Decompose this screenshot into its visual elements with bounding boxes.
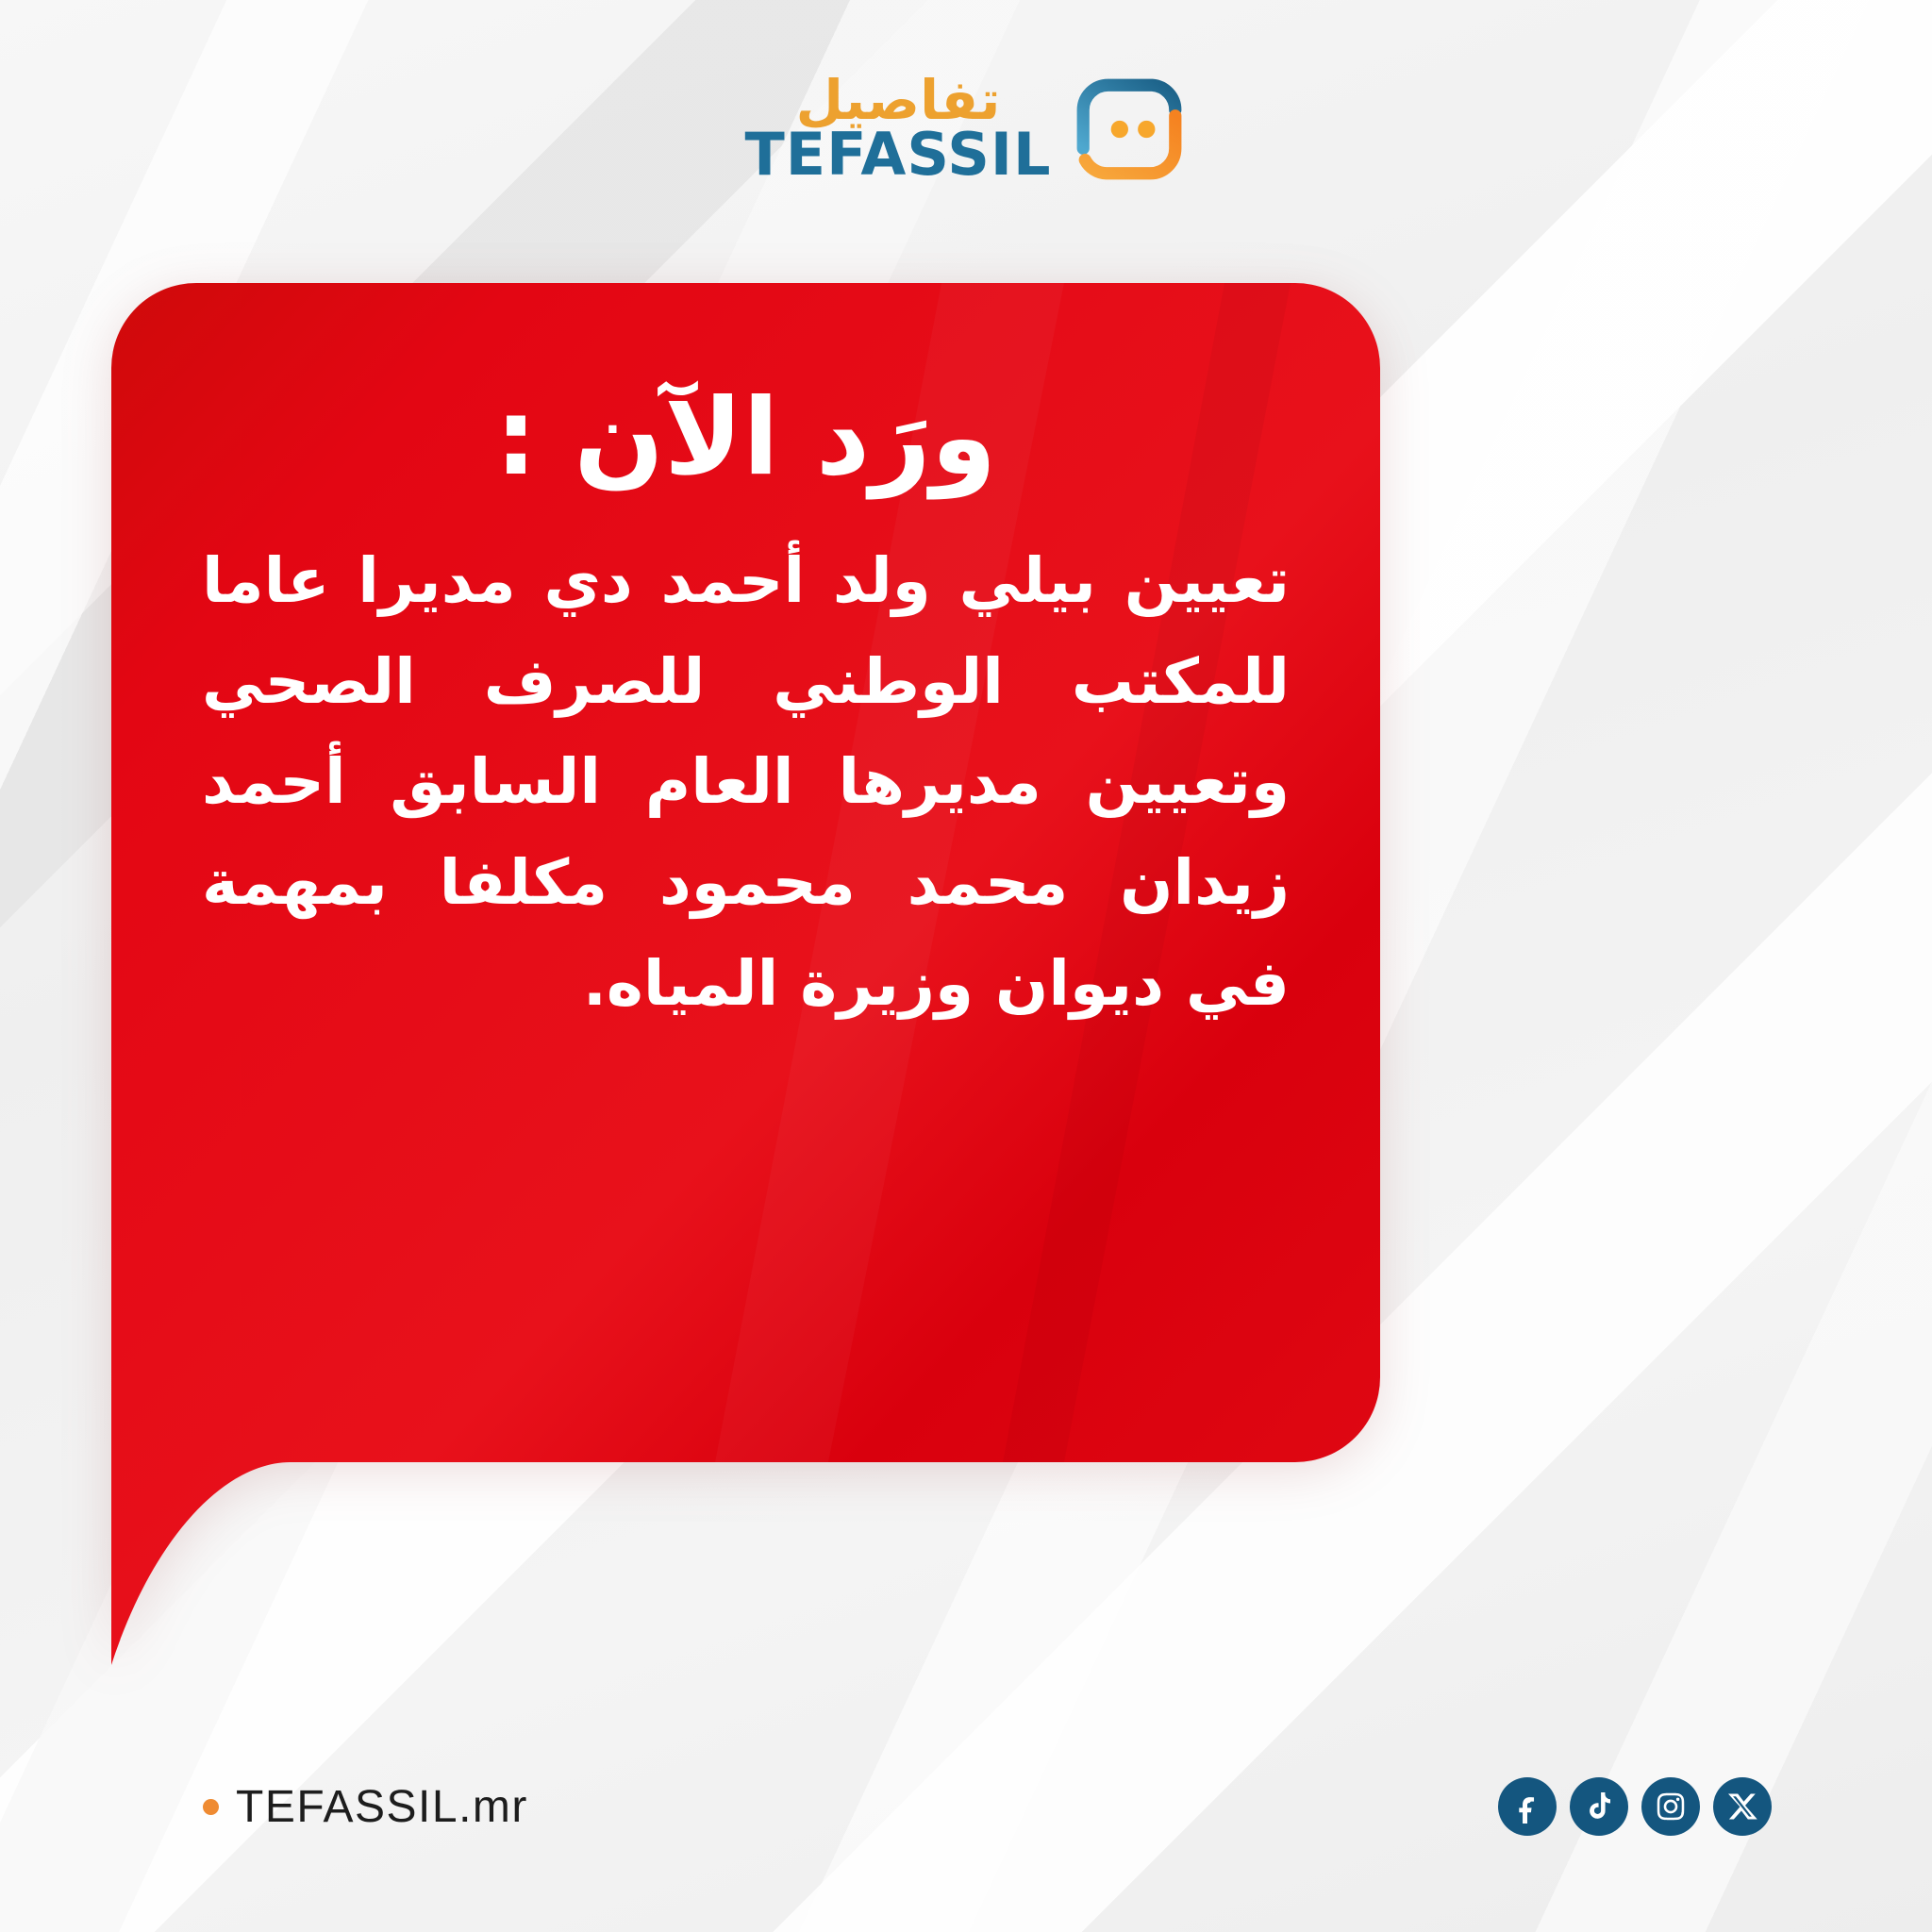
social-link-x[interactable] — [1713, 1777, 1772, 1836]
card-body-line: تعيينبيليولدأحمدديمديراعاما — [202, 531, 1290, 632]
instagram-icon — [1654, 1790, 1688, 1824]
card-body-word: للمكتب — [1072, 632, 1290, 733]
card-body-line: في ديوان وزيرة المياه. — [202, 934, 1290, 1035]
brand-logo: تفاصيل TEFASSIL — [0, 74, 1932, 185]
card-body-word: تعيين — [1124, 531, 1290, 632]
card-body-word: بيلي — [959, 531, 1096, 632]
card-body-word: محمود — [659, 833, 856, 934]
card-body-word: في ديوان وزيرة المياه. — [583, 934, 1290, 1035]
card-body-word: بمهمة — [202, 833, 388, 934]
card-body-word: ولد — [833, 531, 931, 632]
card-body-line: زيدانمحمدمحمودمكلفابمهمة — [202, 833, 1290, 934]
social-link-instagram[interactable] — [1641, 1777, 1700, 1836]
chat-bubble-dots-icon — [1072, 74, 1187, 185]
card-body-word: مديرا — [358, 531, 515, 632]
facebook-icon — [1510, 1790, 1544, 1824]
card-body-line: وتعيينمديرهاالعامالسابقأحمد — [202, 732, 1290, 833]
card-body-word: للصرف — [484, 632, 705, 733]
card-body-word: زيدان — [1120, 833, 1290, 934]
card-body-word: أحمد — [202, 732, 346, 833]
card-body-word: أحمد — [661, 531, 806, 632]
card-body-word: الوطني — [773, 632, 1004, 733]
card-body-word: محمد — [908, 833, 1069, 934]
site-handle-label: TEFASSIL.mr — [236, 1781, 528, 1833]
card-body-word: السابق — [390, 732, 601, 833]
tiktok-icon — [1582, 1790, 1616, 1824]
social-link-tiktok[interactable] — [1570, 1777, 1628, 1836]
brand-wordmark: تفاصيل TEFASSIL — [745, 75, 1052, 183]
card-content: ورَد الآن : تعيينبيليولدأحمدديمديراعامال… — [111, 283, 1380, 1462]
card-body-word: الصحي — [202, 632, 416, 733]
card-body: تعيينبيليولدأحمدديمديراعاماللمكتبالوطنيل… — [202, 531, 1290, 1036]
card-body-word: عاما — [202, 531, 330, 632]
card-body-word: العام — [645, 732, 794, 833]
social-link-facebook[interactable] — [1498, 1777, 1557, 1836]
card-headline: ورَد الآن : — [202, 374, 1290, 503]
card-body-word: وتعيين — [1086, 732, 1290, 833]
announcement-card: ورَد الآن : تعيينبيليولدأحمدديمديراعامال… — [111, 283, 1380, 1665]
card-body-line: للمكتبالوطنيللصرفالصحي — [202, 632, 1290, 733]
card-body-word: مكلفا — [440, 833, 608, 934]
card-body-word: مديرها — [838, 732, 1041, 833]
x-twitter-icon — [1725, 1790, 1759, 1824]
card-body-word: دي — [543, 531, 632, 632]
footer-bar: TEFASSIL.mr — [0, 1755, 1932, 1858]
bullet-dot-icon — [203, 1799, 219, 1815]
social-links — [1498, 1777, 1772, 1836]
site-handle: TEFASSIL.mr — [203, 1781, 528, 1833]
brand-latin-wordmark: TEFASSIL — [745, 125, 1052, 184]
